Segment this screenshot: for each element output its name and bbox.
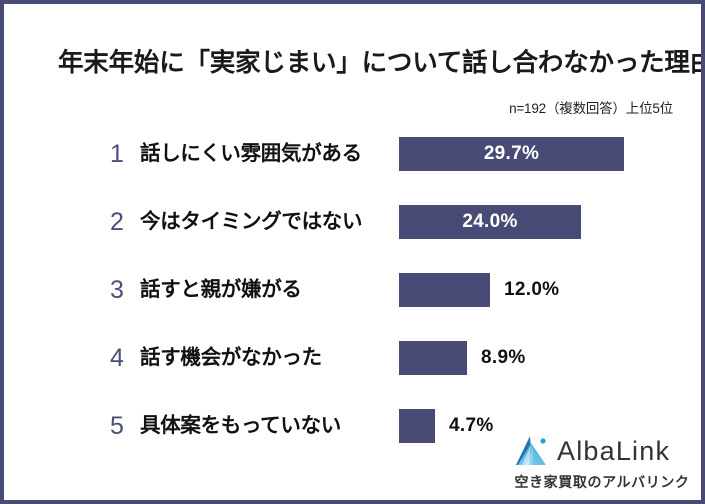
- reason-label: 今はタイミングではない: [140, 205, 362, 239]
- rank-number: 5: [105, 409, 129, 443]
- bar-fill: [399, 273, 490, 307]
- bar-value-label: 12.0%: [504, 273, 559, 307]
- bar-value-label: 8.9%: [481, 341, 526, 375]
- brand-logo: AlbaLink 空き家買取のアルバリンク: [512, 432, 692, 494]
- mountain-triangle-icon: [512, 434, 554, 468]
- ranking-row: 1話しにくい雰囲気がある29.7%: [4, 132, 705, 200]
- rank-number: 1: [105, 137, 129, 171]
- ranking-list: 1話しにくい雰囲気がある29.7%2今はタイミングではない24.0%3話すと親が…: [4, 132, 705, 472]
- bar-value-label: 4.7%: [449, 409, 494, 443]
- logo-tagline: 空き家買取のアルバリンク: [512, 472, 692, 492]
- bar-value-label: 29.7%: [399, 137, 624, 171]
- rank-number: 4: [105, 341, 129, 375]
- ranking-row: 3話すと親が嫌がる12.0%: [4, 268, 705, 336]
- bar-fill: [399, 341, 467, 375]
- reason-label: 話す機会がなかった: [140, 341, 322, 375]
- rank-number: 3: [105, 273, 129, 307]
- ranking-row: 4話す機会がなかった8.9%: [4, 336, 705, 404]
- page-title: 年末年始に「実家じまい」について話し合わなかった理由: [58, 42, 705, 79]
- rank-number: 2: [105, 205, 129, 239]
- reason-label: 話すと親が嫌がる: [140, 273, 302, 307]
- bar-value-label: 24.0%: [399, 205, 581, 239]
- logo-wordmark: AlbaLink: [557, 434, 670, 468]
- ranking-row: 2今はタイミングではない24.0%: [4, 200, 705, 268]
- bar-fill: [399, 409, 435, 443]
- infographic-root: 年末年始に「実家じまい」について話し合わなかった理由 n=192（複数回答）上位…: [0, 0, 705, 504]
- sample-size-note: n=192（複数回答）上位5位: [509, 97, 673, 117]
- reason-label: 話しにくい雰囲気がある: [140, 137, 362, 171]
- reason-label: 具体案をもっていない: [140, 409, 341, 443]
